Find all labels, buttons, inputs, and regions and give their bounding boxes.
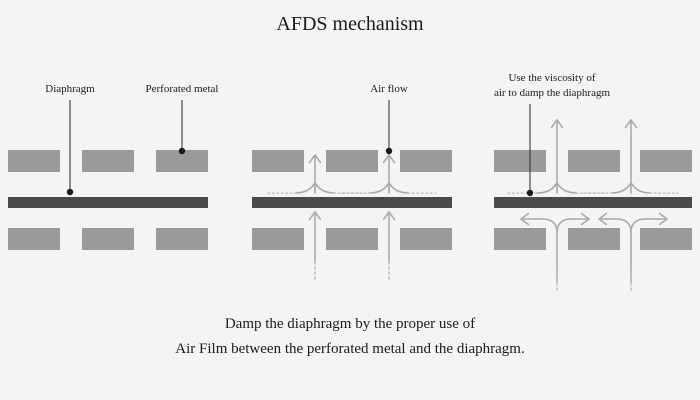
flow-curve-right [557, 183, 577, 193]
perforated-metal-block [252, 150, 304, 172]
perforated-metal-block [568, 150, 620, 172]
perforated-metal-block [640, 228, 692, 250]
perforated-metal-block [494, 150, 546, 172]
inlet-flow-gap-2 [384, 212, 395, 282]
panel-damping-state [494, 120, 692, 292]
panel-static-state [8, 150, 208, 250]
perforated-metal-block [568, 228, 620, 250]
perforated-metal-block [326, 150, 378, 172]
flow-curve-right [631, 183, 651, 193]
flow-curve-right [389, 183, 409, 193]
diagram-canvas: AFDS mechanism Diaphragm Perforated meta… [0, 0, 700, 400]
perforated-metal-block [8, 228, 60, 250]
air-flow-leader-dot [386, 148, 392, 154]
flow-curve-left [611, 183, 631, 193]
figure-caption: Damp the diaphragm by the proper use of … [175, 316, 524, 357]
diaphragm-bar [8, 197, 208, 208]
panel-air-flow-state [252, 150, 452, 282]
diaphragm-callout: Diaphragm [45, 83, 95, 195]
afds-mechanism-diagram: AFDS mechanism Diaphragm Perforated meta… [0, 0, 700, 400]
perforated-metal-block [400, 228, 452, 250]
perforated-metal-block [400, 150, 452, 172]
diaphragm-bar [252, 197, 452, 208]
spread-flow-gap-2 [599, 214, 667, 293]
perforated-metal-block [252, 228, 304, 250]
spread-flow-gap-1 [521, 214, 589, 293]
diaphragm-leader-dot [67, 189, 73, 195]
flow-curve-right [315, 183, 335, 193]
perforated-metal-block [8, 150, 60, 172]
inlet-flow-gap-1 [310, 212, 321, 282]
diaphragm-bar [494, 197, 692, 208]
caption-line-1: Damp the diaphragm by the proper use of [225, 316, 475, 332]
perforated-metal-callout: Perforated metal [146, 83, 219, 154]
page-title: AFDS mechanism [276, 13, 424, 35]
perforated-metal-block [82, 228, 134, 250]
air-flow-callout: Air flow [370, 83, 408, 154]
viscosity-leader-dot [527, 190, 533, 196]
perforated-metal-block [640, 150, 692, 172]
perforated-metal-leader-dot [179, 148, 185, 154]
viscosity-label-line2: air to damp the diaphragm [494, 87, 611, 99]
perforated-metal-block [156, 228, 208, 250]
air-flow-label: Air flow [370, 83, 408, 95]
perforated-metal-label: Perforated metal [146, 83, 219, 95]
viscosity-label-line1: Use the viscosity of [508, 72, 595, 84]
perforated-metal-block [82, 150, 134, 172]
caption-line-2: Air Film between the perforated metal an… [175, 341, 524, 357]
flow-curve-left [537, 183, 557, 193]
perforated-metal-block [326, 228, 378, 250]
flow-curve-left [295, 183, 315, 193]
diaphragm-label: Diaphragm [45, 83, 95, 95]
perforated-metal-block [494, 228, 546, 250]
viscosity-callout: Use the viscosity of air to damp the dia… [494, 72, 611, 196]
flow-curve-left [369, 183, 389, 193]
